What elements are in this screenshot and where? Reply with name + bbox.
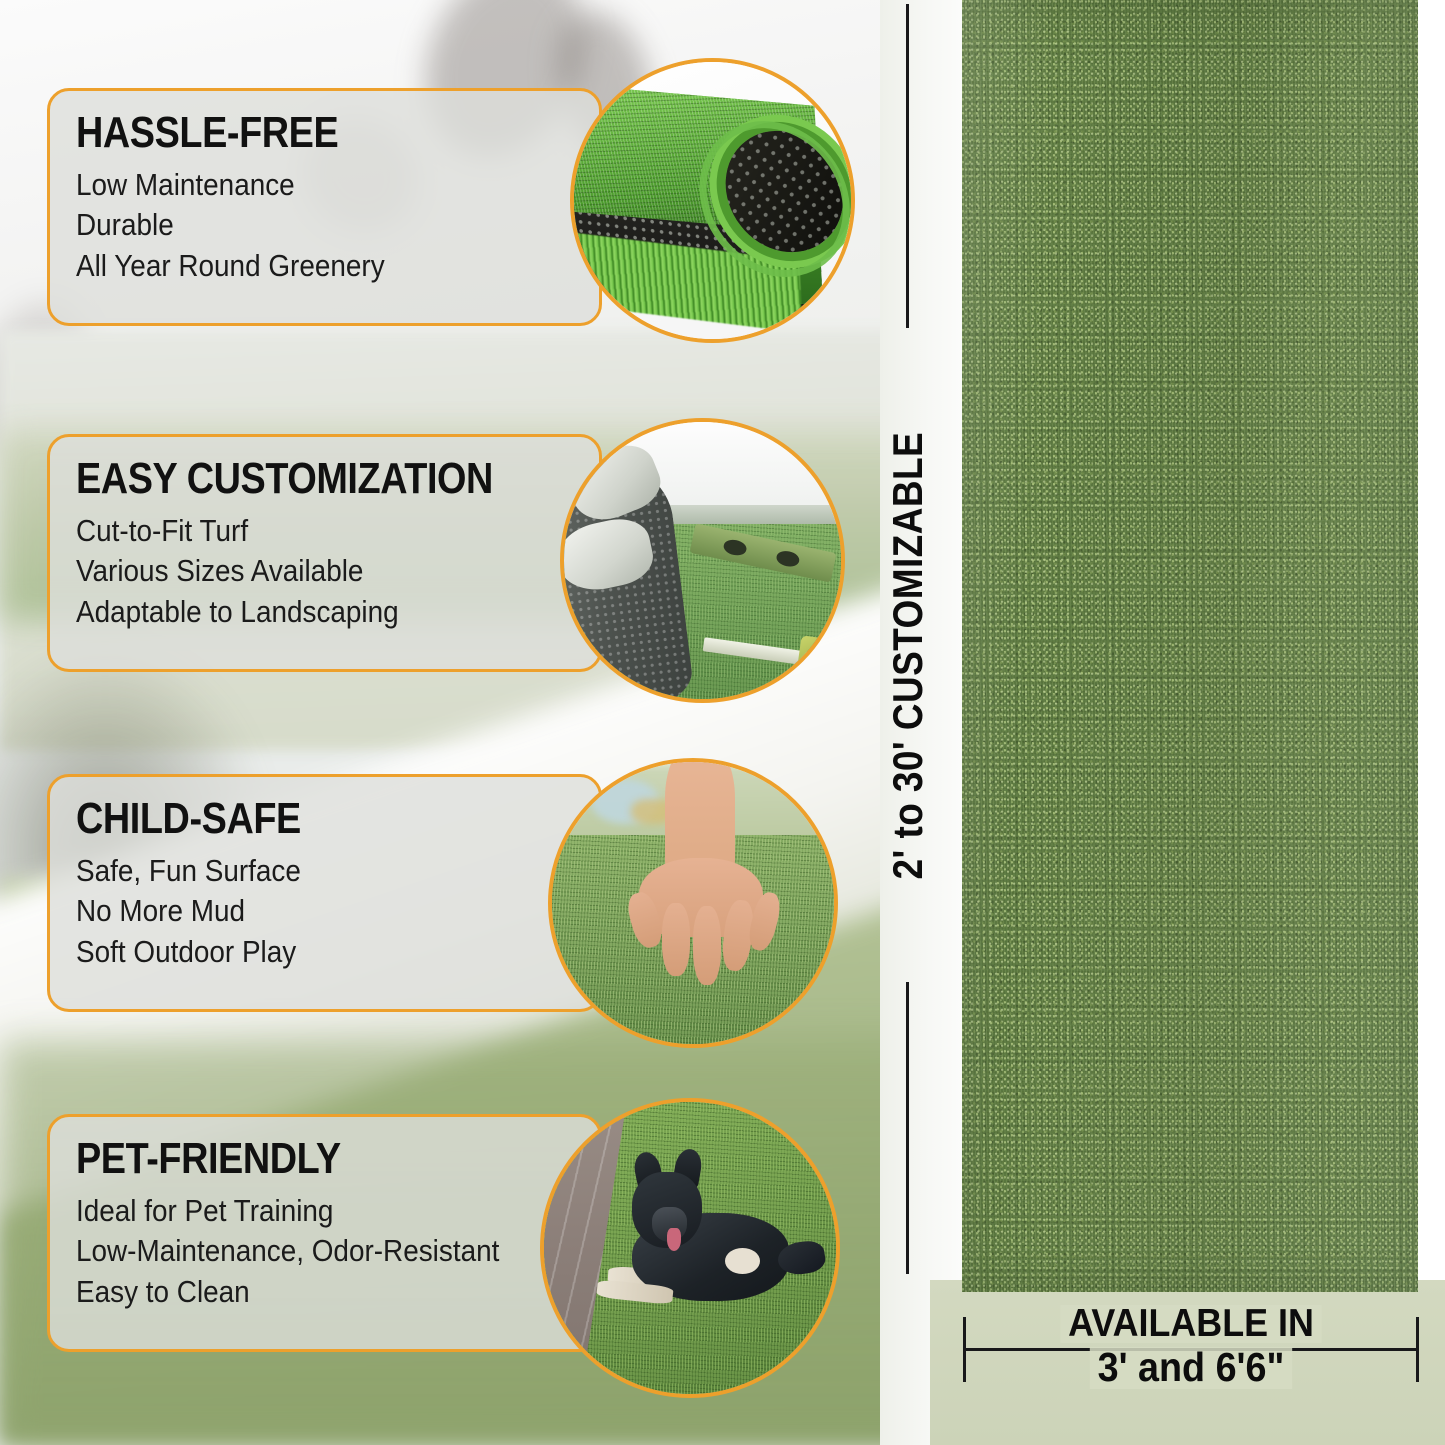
feature-card-pet-friendly: PET-FRIENDLY Ideal for Pet Training Low-…	[47, 1114, 602, 1352]
feature-bullet-list: Low Maintenance Durable All Year Round G…	[76, 165, 573, 286]
feature-bullet: Ideal for Pet Training	[76, 1191, 523, 1231]
feature-card-easy-customization: EASY CUSTOMIZATION Cut-to-Fit Turf Vario…	[47, 434, 602, 672]
length-dimension-line-top	[906, 4, 909, 328]
level-vial	[776, 549, 802, 568]
length-dimension-text: 2' to 30' CUSTOMIZABLE	[884, 432, 932, 880]
turf-swatch	[962, 0, 1418, 1292]
feature-bullet: Various Sizes Available	[76, 551, 523, 591]
feature-title: EASY CUSTOMIZATION	[76, 457, 503, 501]
feature-bullet: Safe, Fun Surface	[76, 851, 523, 891]
feature-card-child-safe: CHILD-SAFE Safe, Fun Surface No More Mud…	[47, 774, 602, 1012]
feature-bullet: Durable	[76, 205, 523, 245]
rolled-turf-sample-photo	[570, 58, 855, 343]
feature-bullet-list: Safe, Fun Surface No More Mud Soft Outdo…	[76, 851, 573, 972]
tape-measure-body	[797, 635, 843, 676]
gloved-hands-installing-turf-photo	[560, 418, 845, 703]
level-vial	[722, 538, 748, 557]
child-finger	[662, 903, 690, 976]
feature-title: CHILD-SAFE	[76, 797, 503, 841]
feature-bullet: Low Maintenance	[76, 165, 523, 205]
feature-title: PET-FRIENDLY	[76, 1137, 503, 1181]
feature-bullet: No More Mud	[76, 891, 523, 931]
available-sizes-text: 3' and 6'6"	[981, 1347, 1401, 1389]
dog-lying-on-turf-photo	[540, 1098, 840, 1398]
width-dimension-label: AVAILABLE IN 3' and 6'6"	[963, 1305, 1419, 1389]
length-dimension-label: 2' to 30' CUSTOMIZABLE	[880, 345, 936, 975]
feature-bullet: Easy to Clean	[76, 1272, 523, 1312]
feature-bullet: Low-Maintenance, Odor-Resistant	[76, 1231, 523, 1271]
feature-bullet: Adaptable to Landscaping	[76, 592, 523, 632]
infographic-root: HASSLE-FREE Low Maintenance Durable All …	[0, 0, 1445, 1445]
feature-bullet-list: Cut-to-Fit Turf Various Sizes Available …	[76, 511, 573, 632]
child-finger	[693, 906, 721, 985]
feature-bullet: All Year Round Greenery	[76, 246, 523, 286]
length-dimension-line-bottom	[906, 982, 909, 1274]
turf-sheen-overlay	[962, 0, 1418, 1292]
feature-card-hassle-free: HASSLE-FREE Low Maintenance Durable All …	[47, 88, 602, 326]
feature-bullet-list: Ideal for Pet Training Low-Maintenance, …	[76, 1191, 573, 1312]
available-in-text: AVAILABLE IN	[981, 1305, 1401, 1343]
feature-title: HASSLE-FREE	[76, 111, 503, 155]
feature-bullet: Soft Outdoor Play	[76, 932, 523, 972]
feature-bullet: Cut-to-Fit Turf	[76, 511, 523, 551]
child-hand-on-turf-photo	[548, 758, 838, 1048]
dog-tongue	[667, 1228, 682, 1251]
